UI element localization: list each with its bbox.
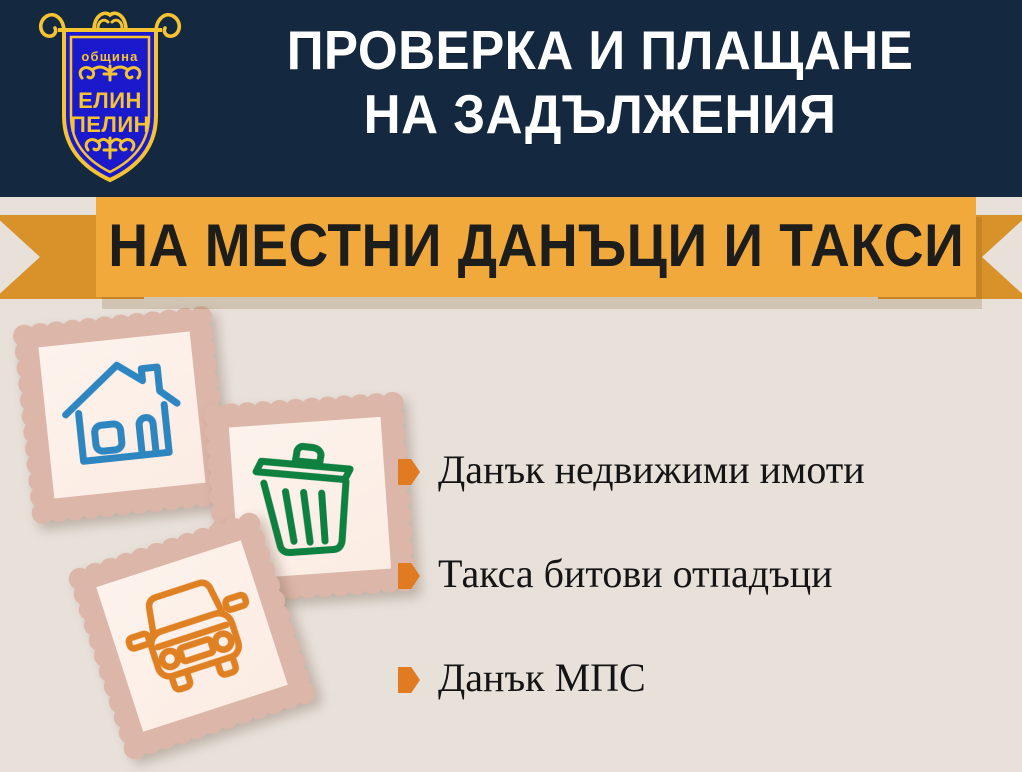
ribbon-banner: НА МЕСТНИ ДАНЪЦИ И ТАКСИ — [96, 197, 976, 297]
tax-type-list: Данък недвижими имоти Такса битови отпад… — [398, 418, 1008, 730]
elin-pelin-municipality-crest-icon: община ЕЛИН ПЕЛИН — [30, 8, 190, 188]
svg-text:община: община — [81, 49, 138, 64]
svg-text:ПЕЛИН: ПЕЛИН — [70, 112, 150, 137]
subtitle-ribbon: НА МЕСТНИ ДАНЪЦИ И ТАКСИ — [0, 197, 1022, 309]
list-item-label: Данък МПС — [438, 658, 646, 698]
stamp-card-property — [12, 305, 232, 525]
list-item[interactable]: Такса битови отпадъци — [398, 522, 1008, 626]
arrow-bullet-icon — [398, 563, 420, 589]
list-item[interactable]: Данък МПС — [398, 626, 1008, 730]
ribbon-label: НА МЕСТНИ ДАНЪЦИ И ТАКСИ — [108, 216, 964, 276]
list-item-label: Такса битови отпадъци — [438, 554, 833, 594]
arrow-bullet-icon — [398, 459, 420, 485]
page-title: ПРОВЕРКА И ПЛАЩАНЕ НА ЗАДЪЛЖЕНИЯ — [219, 18, 982, 147]
arrow-bullet-icon — [398, 667, 420, 693]
house-icon — [38, 331, 205, 498]
list-item-label: Данък недвижими имоти — [438, 450, 865, 490]
svg-text:ЕЛИН: ЕЛИН — [78, 88, 142, 113]
list-item[interactable]: Данък недвижими имоти — [398, 418, 1008, 522]
page-title-line-1: ПРОВЕРКА И ПЛАЩАНЕ — [219, 18, 982, 82]
page-title-line-2: НА ЗАДЪЛЖЕНИЯ — [219, 82, 982, 146]
poster-canvas: община ЕЛИН ПЕЛИН ПРОВЕРКА И ПЛАЩ — [0, 0, 1022, 772]
municipality-logo: община ЕЛИН ПЕЛИН — [30, 8, 190, 188]
